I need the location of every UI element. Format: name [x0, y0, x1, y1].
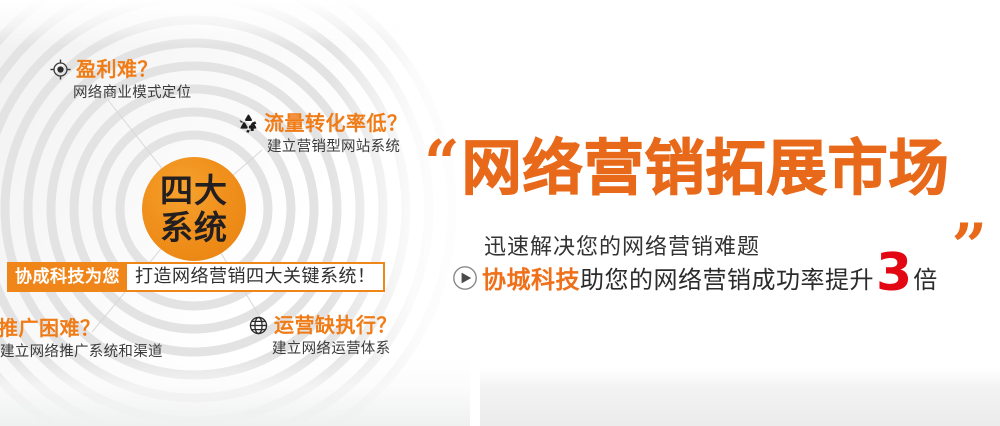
pain-point-promotion-header: 推广困难？: [0, 317, 163, 340]
page-title: 网络营销拓展市场: [462, 138, 950, 202]
pain-point-promotion-subtitle: 建立网络推广系统和渠道: [0, 343, 163, 361]
target-icon: [50, 59, 71, 80]
pain-point-operations-title: 运营缺执行？: [274, 314, 397, 337]
pain-point-promotion-title: 推广困难？: [0, 317, 101, 340]
badge-line-2: 系统: [160, 211, 228, 244]
tagline-strip-brand: 协成科技为您: [9, 264, 127, 290]
pain-point-profit-header: 盈利难？: [50, 58, 191, 81]
marketing-banner: 四大 系统 盈利难？ 网络商业模式定位: [0, 0, 1000, 426]
multiplier-value: 3: [876, 255, 912, 292]
pain-point-traffic-title: 流量转化率低？: [264, 112, 408, 135]
quote-close-icon: „: [953, 180, 989, 242]
recycle-icon: [238, 113, 259, 134]
pain-point-promotion: 推广困难？ 建立网络推广系统和渠道: [0, 317, 163, 361]
headline-subtitle-2: 协城科技 助您的网络营销成功率提升 3 倍: [452, 259, 937, 296]
globe-icon: [248, 315, 269, 336]
four-systems-badge: 四大 系统: [142, 157, 246, 261]
play-circle-icon: [452, 265, 478, 291]
benefit-text: 助您的网络营销成功率提升: [580, 260, 874, 295]
pain-point-operations: 运营缺执行？ 建立网络运营体系: [248, 314, 397, 358]
pain-point-traffic: 流量转化率低？ 建立营销型网站系统: [238, 112, 408, 156]
pain-point-profit: 盈利难？ 网络商业模式定位: [50, 58, 191, 102]
pain-point-operations-header: 运营缺执行？: [248, 314, 397, 337]
pain-point-operations-subtitle: 建立网络运营体系: [272, 340, 397, 358]
headline-block: “ 网络营销拓展市场 „: [424, 138, 988, 220]
tagline-strip: 协成科技为您 打造网络营销四大关键系统！: [7, 262, 385, 292]
quote-open-icon: “: [424, 132, 460, 194]
pain-point-profit-subtitle: 网络商业模式定位: [73, 84, 191, 102]
pain-point-traffic-subtitle: 建立营销型网站系统: [267, 138, 408, 156]
badge-line-1: 四大: [160, 174, 228, 207]
company-name: 协城科技: [482, 260, 580, 295]
pain-point-traffic-header: 流量转化率低？: [238, 112, 408, 135]
multiplier-unit: 倍: [913, 260, 937, 295]
tagline-strip-message: 打造网络营销四大关键系统！: [127, 264, 383, 290]
pain-point-profit-title: 盈利难？: [76, 58, 158, 81]
headline-subtitle-1: 迅速解决您的网络营销难题: [484, 229, 760, 261]
